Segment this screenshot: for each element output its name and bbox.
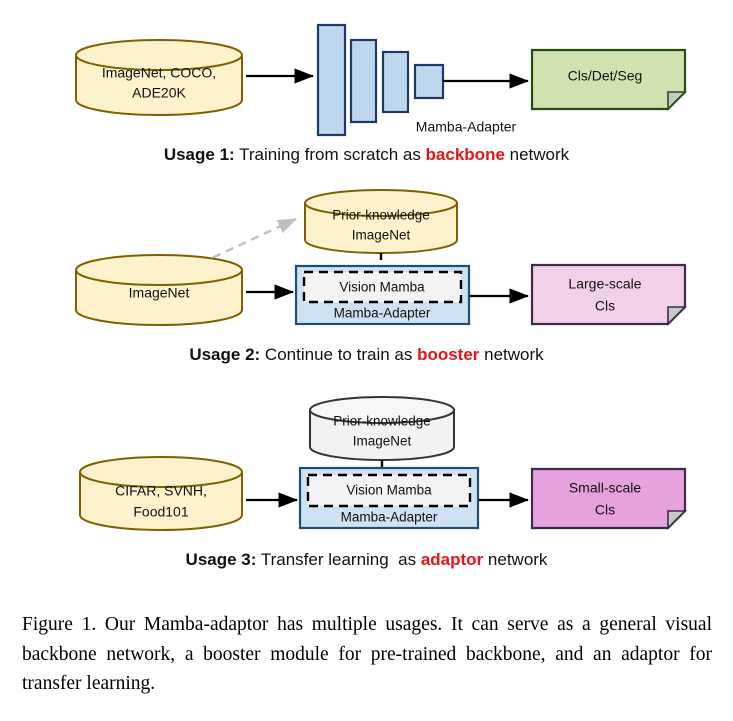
source-cylinder-imagenet[interactable]: ImageNet xyxy=(76,255,242,325)
source-cylinder-line1: ImageNet xyxy=(129,285,190,301)
usage-1-text-before: Training from scratch as xyxy=(235,145,426,164)
backbone-bar-4 xyxy=(415,65,443,98)
usage-3-text-after: network xyxy=(483,550,547,569)
usage-2-highlight: booster xyxy=(417,345,479,364)
output-doc-small-scale-cls[interactable]: Small-scale Cls xyxy=(532,469,685,528)
source-cylinder-datasets[interactable]: CIFAR, SVNH, Food101 xyxy=(80,457,242,530)
doc-body xyxy=(532,469,685,528)
usage-1-caption: Usage 1: Training from scratch as backbo… xyxy=(0,145,733,165)
usage-2-text-before: Continue to train as xyxy=(260,345,417,364)
doc-fold-corner-icon xyxy=(668,307,685,324)
backbone-bar-3 xyxy=(383,52,408,112)
output-doc-line1: Cls/Det/Seg xyxy=(568,68,643,84)
prior-cylinder-line1: Prior-knowledge xyxy=(333,414,431,429)
figure-container: ImageNet, COCO, ADE20K Mamba-Adapter Cls… xyxy=(0,0,733,721)
mamba-adapter-box[interactable]: Vision Mamba Mamba-Adapter xyxy=(296,266,469,324)
backbone-bar-2 xyxy=(351,40,376,122)
prior-knowledge-cylinder[interactable]: Prior-knowledge ImageNet xyxy=(310,397,454,460)
output-doc-large-scale-cls[interactable]: Large-scale Cls xyxy=(532,265,685,324)
mamba-adapter-label: Mamba-Adapter xyxy=(416,119,517,135)
doc-body xyxy=(532,265,685,324)
pipeline-diagram: ImageNet, COCO, ADE20K Mamba-Adapter Cls… xyxy=(0,0,733,600)
doc-fold-corner-icon xyxy=(668,511,685,528)
figure-caption: Figure 1. Our Mamba-adaptor has multiple… xyxy=(22,610,712,699)
output-doc-line1: Small-scale xyxy=(569,480,642,496)
output-doc-line2: Cls xyxy=(595,298,615,314)
vision-mamba-label: Vision Mamba xyxy=(346,483,432,498)
prior-cylinder-line2: ImageNet xyxy=(352,228,411,243)
mamba-adapter-label: Mamba-Adapter xyxy=(341,510,438,525)
usage-1-prefix: Usage 1: xyxy=(164,145,235,164)
cylinder-top-ellipse xyxy=(76,255,242,285)
source-cylinder-datasets[interactable]: ImageNet, COCO, ADE20K xyxy=(76,40,242,115)
backbone-bar-1 xyxy=(318,25,345,135)
usage-2-text-after: network xyxy=(479,345,543,364)
source-cylinder-line2: ADE20K xyxy=(132,85,186,101)
mamba-adapter-label: Mamba-Adapter xyxy=(334,306,431,321)
usage-1-highlight: backbone xyxy=(426,145,505,164)
usage-3-highlight: adaptor xyxy=(421,550,483,569)
usage-2-caption: Usage 2: Continue to train as booster ne… xyxy=(0,345,733,365)
usage-1-text-after: network xyxy=(505,145,569,164)
usage-3-text-before: Transfer learning as xyxy=(256,550,420,569)
prior-cylinder-line1: Prior-knowledge xyxy=(332,208,430,223)
source-cylinder-line2: Food101 xyxy=(133,504,188,520)
output-doc-cls-det-seg[interactable]: Cls/Det/Seg xyxy=(532,50,685,109)
source-cylinder-line1: ImageNet, COCO, xyxy=(102,65,216,81)
usage-3-prefix: Usage 3: xyxy=(186,550,257,569)
output-doc-line2: Cls xyxy=(595,502,615,518)
usage-1-row: ImageNet, COCO, ADE20K Mamba-Adapter Cls… xyxy=(76,25,685,135)
usage-2-prefix: Usage 2: xyxy=(189,345,260,364)
prior-cylinder-line2: ImageNet xyxy=(353,434,412,449)
vision-mamba-label: Vision Mamba xyxy=(339,280,425,295)
source-cylinder-line1: CIFAR, SVNH, xyxy=(115,483,207,499)
doc-fold-corner-icon xyxy=(668,92,685,109)
usage-3-caption: Usage 3: Transfer learning as adaptor ne… xyxy=(0,550,733,570)
usage-3-row: Prior-knowledge ImageNet CIFAR, SVNH, Fo… xyxy=(80,397,685,530)
prior-knowledge-cylinder[interactable]: Prior-knowledge ImageNet xyxy=(305,190,457,253)
output-doc-line1: Large-scale xyxy=(568,276,641,292)
usage-2-row: Prior-knowledge ImageNet ImageNet Vision… xyxy=(76,190,685,325)
mamba-adapter-box[interactable]: Vision Mamba Mamba-Adapter xyxy=(300,468,478,528)
